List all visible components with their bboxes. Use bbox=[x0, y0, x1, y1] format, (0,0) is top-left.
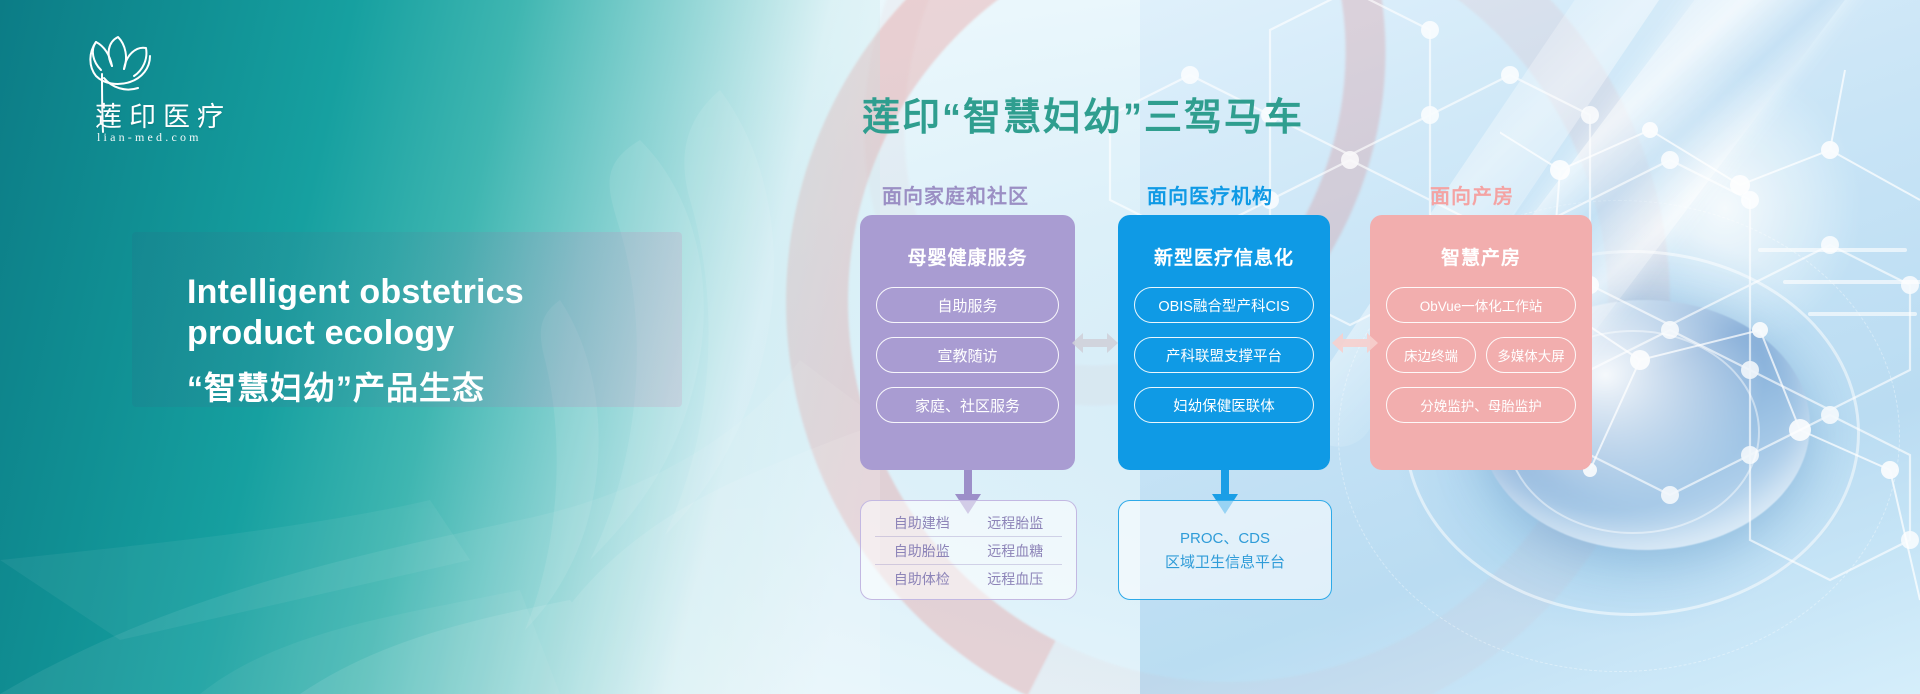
card-title: 新型医疗信息化 bbox=[1118, 243, 1330, 270]
chip-obstetrics-alliance-platform[interactable]: 产科联盟支撑平台 bbox=[1134, 337, 1314, 373]
card-title: 母婴健康服务 bbox=[860, 243, 1075, 270]
detail-cell-self-registration: 自助建档 bbox=[875, 513, 969, 533]
column-header-family-community: 面向家庭和社区 bbox=[882, 180, 1029, 209]
detail-cell-self-fetal-monitoring: 自助胎监 bbox=[875, 541, 969, 561]
detail-line-regional-health-platform: 区域卫生信息平台 bbox=[1119, 551, 1331, 575]
card-chip-list: ObVue一体化工作站 床边终端 多媒体大屏 分娩监护、母胎监护 bbox=[1386, 287, 1576, 437]
column-header-medical-institution: 面向医疗机构 bbox=[1147, 180, 1273, 209]
logo-website-url: lian-med.com bbox=[97, 130, 202, 145]
detail-text: PROC、CDS 区域卫生信息平台 bbox=[1119, 527, 1331, 575]
slide-canvas: 莲印医疗 lian-med.com Intelligent obstetrics… bbox=[0, 0, 1920, 694]
card-new-medical-informatization[interactable]: 新型医疗信息化 OBIS融合型产科CIS 产科联盟支撑平台 妇幼保健医联体 bbox=[1118, 215, 1330, 470]
detail-cell-remote-blood-pressure: 远程血压 bbox=[969, 569, 1063, 589]
card-chip-list: OBIS融合型产科CIS 产科联盟支撑平台 妇幼保健医联体 bbox=[1134, 287, 1314, 437]
chip-maternal-child-health-alliance[interactable]: 妇幼保健医联体 bbox=[1134, 387, 1314, 423]
headline-english: Intelligent obstetrics product ecology bbox=[187, 272, 657, 355]
detail-cell-remote-fetal-monitoring: 远程胎监 bbox=[969, 513, 1063, 533]
headline-chinese: “智慧妇幼”产品生态 bbox=[187, 363, 657, 409]
card-title: 智慧产房 bbox=[1370, 243, 1592, 270]
chip-self-service[interactable]: 自助服务 bbox=[876, 287, 1059, 323]
detail-line-proc-cds: PROC、CDS bbox=[1119, 527, 1331, 551]
card-chip-list: 自助服务 宣教随访 家庭、社区服务 bbox=[876, 287, 1059, 437]
headline-english-line1: Intelligent obstetrics bbox=[187, 272, 657, 313]
chip-education-followup[interactable]: 宣教随访 bbox=[876, 337, 1059, 373]
chip-row: 床边终端 多媒体大屏 bbox=[1386, 337, 1576, 373]
detail-row: 自助胎监 远程血糖 bbox=[875, 537, 1062, 565]
card-maternal-health-services[interactable]: 母婴健康服务 自助服务 宣教随访 家庭、社区服务 bbox=[860, 215, 1075, 470]
chip-multimedia-display[interactable]: 多媒体大屏 bbox=[1486, 337, 1576, 373]
double-arrow-horizontal-icon bbox=[1332, 330, 1378, 356]
chip-labor-fetal-monitoring[interactable]: 分娩监护、母胎监护 bbox=[1386, 387, 1576, 423]
detail-row: 自助建档 远程胎监 bbox=[875, 509, 1062, 537]
detail-cell-self-physical-exam: 自助体检 bbox=[875, 569, 969, 589]
logo-company-name: 莲印医疗 bbox=[95, 95, 231, 134]
headline-english-line2: product ecology bbox=[187, 313, 657, 354]
chip-obvue-workstation[interactable]: ObVue一体化工作站 bbox=[1386, 287, 1576, 323]
detail-grid: 自助建档 远程胎监 自助胎监 远程血糖 自助体检 远程血压 bbox=[875, 509, 1062, 592]
detail-box-family-services: 自助建档 远程胎监 自助胎监 远程血糖 自助体检 远程血压 bbox=[860, 500, 1077, 600]
double-arrow-horizontal-icon bbox=[1072, 330, 1118, 356]
detail-cell-remote-blood-glucose: 远程血糖 bbox=[969, 541, 1063, 561]
chip-obis-cis[interactable]: OBIS融合型产科CIS bbox=[1134, 287, 1314, 323]
card-smart-delivery-room[interactable]: 智慧产房 ObVue一体化工作站 床边终端 多媒体大屏 分娩监护、母胎监护 bbox=[1370, 215, 1592, 470]
page-title: 莲印“智慧妇幼”三驾马车 bbox=[862, 86, 1304, 141]
column-header-delivery-room: 面向产房 bbox=[1430, 180, 1514, 209]
detail-box-regional-platform: PROC、CDS 区域卫生信息平台 bbox=[1118, 500, 1332, 600]
chip-bedside-terminal[interactable]: 床边终端 bbox=[1386, 337, 1476, 373]
chip-family-community-service[interactable]: 家庭、社区服务 bbox=[876, 387, 1059, 423]
detail-row: 自助体检 远程血压 bbox=[875, 565, 1062, 592]
